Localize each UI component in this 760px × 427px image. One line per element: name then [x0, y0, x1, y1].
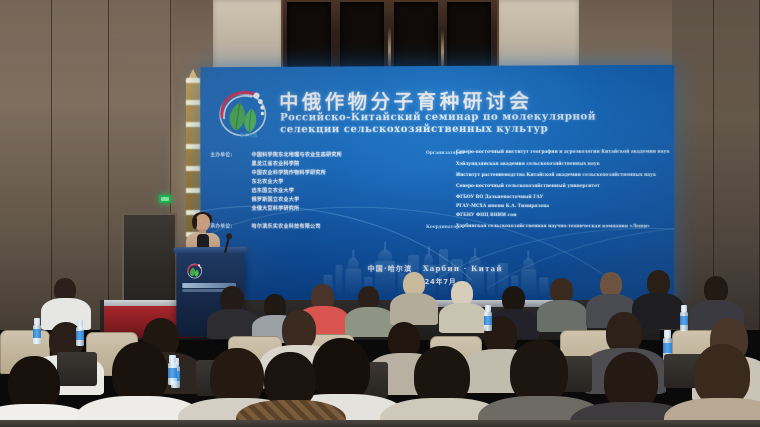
bottle-cap [34, 318, 39, 325]
bottle-cap [664, 330, 670, 338]
person-head [694, 344, 750, 406]
audience-member [392, 272, 436, 322]
audience-member [676, 344, 760, 427]
person-head [510, 340, 568, 404]
audience [0, 0, 760, 427]
water-bottle [76, 320, 84, 346]
audience-member [394, 346, 490, 427]
person-head [414, 346, 470, 406]
audience-member [540, 278, 584, 328]
bottle-cap [681, 305, 686, 312]
conference-photo: ЗСКБ 中俄作物分子育种研讨会 Российско-Китайский сем… [0, 0, 760, 427]
water-bottle [33, 318, 41, 344]
aisle-floor [0, 420, 760, 427]
person-head [112, 342, 168, 404]
water-bottle [680, 305, 688, 331]
person-shoulders [390, 293, 438, 325]
water-bottle [484, 305, 492, 331]
person-head [704, 276, 728, 303]
audience-member [211, 286, 255, 332]
bottle-cap [485, 305, 490, 312]
audience-member [92, 342, 188, 427]
audience-member [248, 352, 334, 427]
bottle-cap [77, 320, 82, 327]
bottle-label [76, 331, 84, 340]
person-shoulders [537, 300, 587, 332]
audience-member [0, 356, 80, 427]
bottle-label [484, 316, 492, 325]
bottle-label [680, 316, 688, 325]
bottle-label [33, 329, 41, 338]
audience-member [44, 278, 88, 326]
